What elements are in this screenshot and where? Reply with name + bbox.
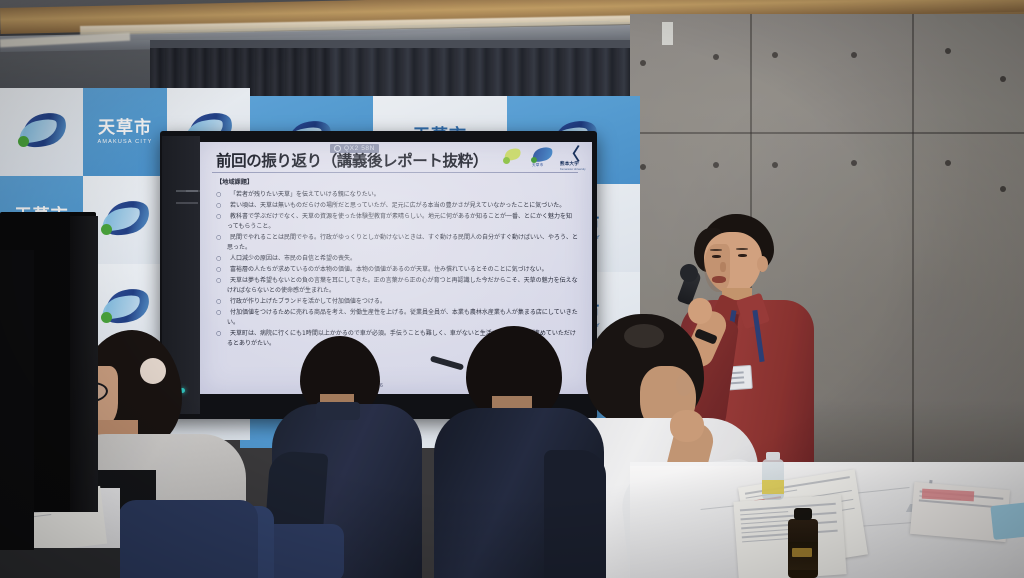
amakusa-swoosh-icon — [15, 112, 69, 152]
bullet-marker: ○ — [216, 212, 221, 222]
attendee-3 — [434, 326, 604, 578]
form-tie-hole — [772, 162, 778, 168]
slide-section-heading: 【地域課題】 — [216, 178, 578, 188]
slide-bullet: ○天草は夢も希望もないとの負の言葉を耳にしてきた。正の言葉から正の心が育つと再認… — [216, 276, 578, 295]
amakusa-city-logo-icon — [502, 148, 524, 166]
bullet-marker: ○ — [216, 297, 221, 307]
pen — [430, 355, 464, 370]
bullet-marker: ○ — [216, 276, 221, 286]
amakusa-swoosh-icon — [98, 200, 152, 240]
hair-clip — [140, 358, 166, 384]
slide-bullet: ○富裕層の人たちが求めているのが本物の価値。本物の価値があるのが天草。住み慣れて… — [216, 265, 578, 275]
speaker-eyebrow-right — [736, 248, 748, 250]
attendee-2 — [272, 336, 422, 578]
foreground-chair — [118, 500, 258, 578]
attendee-hand — [670, 410, 704, 442]
amakusa-swoosh-icon — [98, 288, 152, 328]
speaker-nose — [720, 262, 726, 272]
slide-body: 【地域課題】 ○「若者が残りたい天草」を伝えていける親になりたい。 ○若い頃は、… — [216, 178, 578, 350]
bullet-marker: ○ — [216, 190, 221, 200]
wall-sticker — [662, 22, 673, 45]
partner-logo-caption: 天草市 — [532, 163, 543, 168]
bullet-marker: ○ — [216, 233, 221, 243]
form-tie-hole — [851, 52, 857, 58]
slide-bullet: ○教科書で学ぶだけでなく、天草の資源を使った体験型教育が素晴らしい。地元に何があ… — [216, 212, 578, 231]
bullet-marker: ○ — [216, 265, 221, 275]
kumamoto-university-logo-icon: 〈 熊本大学 Kumamoto University — [560, 147, 584, 167]
projector-osd-badge: QX2 58N — [330, 144, 379, 153]
title-underline — [212, 172, 578, 173]
speaker-mouth — [712, 276, 726, 283]
slide-bullet: ○民間でやれることは民間でやる。行政がゆっくりとしか動けないときは、すぐ動ける民… — [216, 233, 578, 252]
banner-text-en: AMAKUSA CITY — [97, 140, 152, 146]
slide-bullet: ○行政が作り上げたブランドを活かして付加価値をつける。 — [216, 297, 578, 307]
speaker-ear — [757, 256, 768, 272]
osd-label: QX2 58N — [344, 145, 375, 152]
blue-item — [990, 502, 1024, 540]
curtain-header — [150, 40, 630, 48]
attendee-ear — [676, 374, 692, 396]
foreground-dark-panel — [0, 250, 34, 550]
clear-water-bottle[interactable] — [760, 452, 786, 500]
form-tie-hole — [851, 160, 857, 166]
form-tie-hole — [1000, 76, 1006, 82]
form-tie-hole — [772, 52, 778, 58]
form-tie-hole — [640, 164, 646, 170]
form-tie-hole — [1000, 186, 1006, 192]
attendee-hair-highlight — [624, 324, 664, 348]
slide-bullet: ○若い頃は、天草は無いものだらけの場所だと思っていたが、足元に広がる本当の豊かさ… — [216, 201, 578, 211]
university-logo-subcaption: Kumamoto University — [560, 168, 586, 171]
banner-tile-text: 天草市AMAKUSA CITY — [83, 88, 166, 176]
banner-text-jp: 天草市 — [97, 119, 152, 137]
speaker-eye-left — [712, 255, 721, 258]
slide-bullet: ○付加価値をつけるために売れる商品を考え、労働生産性を上げる。従業員全員が、本業… — [216, 308, 578, 327]
speaker-eye-right — [738, 254, 747, 257]
partner-logo-icon: 天草市 — [529, 147, 555, 167]
concrete-seam-horizontal — [630, 132, 1024, 134]
speaker-eyebrow-left — [710, 249, 722, 251]
display-reflection — [186, 190, 200, 192]
bullet-marker: ○ — [216, 254, 221, 264]
attendee-arm — [544, 450, 606, 578]
dark-tea-bottle[interactable] — [786, 508, 820, 578]
slide-logo-group: 天草市 〈 熊本大学 Kumamoto University — [502, 147, 584, 167]
banner-tile-logo — [0, 88, 83, 176]
form-tie-hole — [713, 54, 719, 60]
university-logo-caption: 熊本大学 — [560, 161, 579, 167]
slide-bullet: ○「若者が残りたい天草」を伝えていける親になりたい。 — [216, 190, 578, 200]
form-tie-hole — [945, 160, 951, 166]
osd-indicator-icon — [334, 145, 341, 152]
form-tie-hole — [945, 48, 951, 54]
attendee-collar — [316, 402, 360, 420]
foreground-monitor-edge — [70, 216, 98, 512]
bullet-marker: ○ — [216, 308, 221, 318]
left-table-front — [0, 548, 120, 578]
bullet-marker: ○ — [216, 201, 221, 211]
speaker-face-shadow — [704, 244, 730, 292]
slide-bullet: ○人口減少の原因は、市民の自信と希望の喪失。 — [216, 254, 578, 264]
presentation-room-photo: 天草市AMAKUSA CITY 天草市AMAKUSA CITY 天草市AMAKU… — [0, 0, 1024, 578]
form-tie-hole — [640, 60, 646, 66]
form-tie-hole — [713, 162, 719, 168]
display-reflection — [176, 202, 198, 204]
